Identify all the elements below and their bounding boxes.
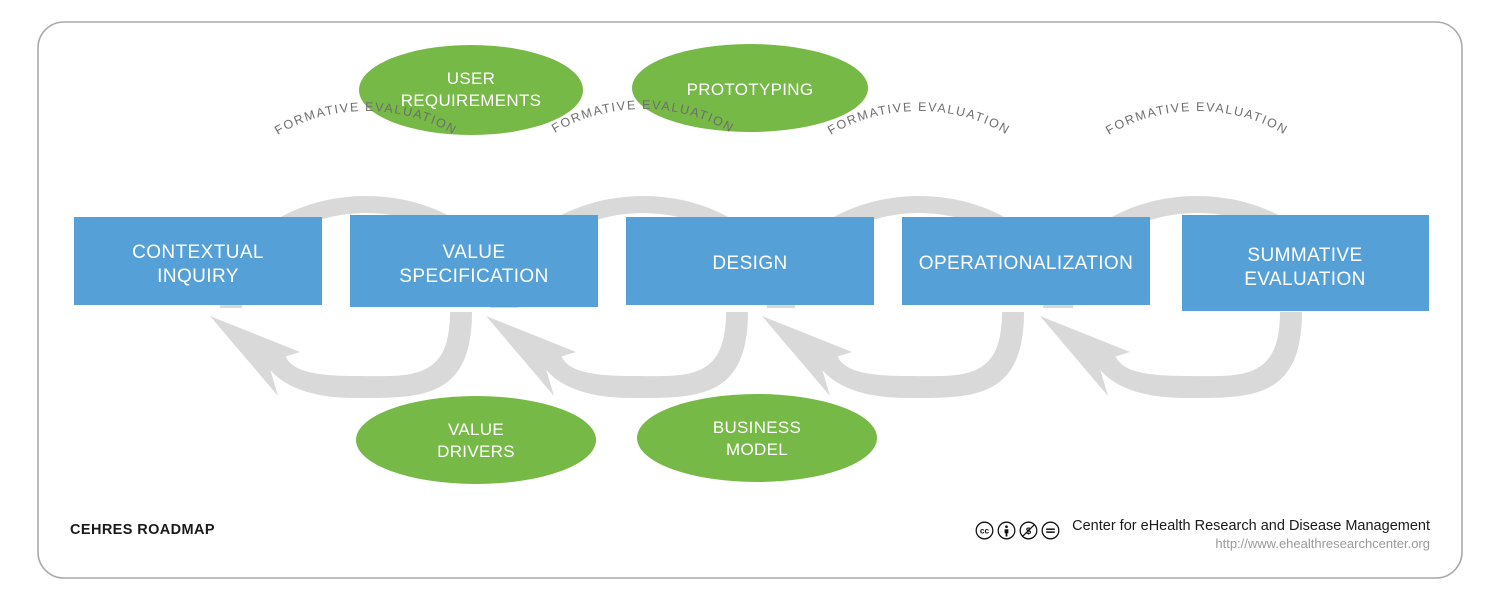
footer-right: cc $ Center for eHealth Research and Dis… xyxy=(975,518,1430,551)
activity-value-drivers[interactable]: VALUE DRIVERS xyxy=(356,396,596,484)
stage-label-line-1: OPERATIONALIZATION xyxy=(919,253,1133,274)
activity-label-line-2: MODEL xyxy=(726,440,788,459)
cc-nd-icon xyxy=(1041,521,1060,540)
stage-label-line-2: EVALUATION xyxy=(1244,269,1366,290)
activity-label-line-2: REQUIREMENTS xyxy=(401,91,542,110)
stage-label-line-1: CONTEXTUAL xyxy=(132,242,264,263)
activity-label-line-1: USER xyxy=(447,69,495,88)
organization-name: Center for eHealth Research and Disease … xyxy=(1072,518,1430,534)
cc-icon: cc xyxy=(975,521,994,540)
activity-user-requirements[interactable]: USER REQUIREMENTS xyxy=(359,45,583,135)
stage-label-line-1: VALUE xyxy=(443,242,506,263)
cc-nc-icon: $ xyxy=(1019,521,1038,540)
stage-label-line-1: SUMMATIVE xyxy=(1247,245,1362,266)
stage-box-summative-evaluation[interactable]: SUMMATIVE EVALUATION xyxy=(1182,215,1429,311)
stage-label-line-1: DESIGN xyxy=(712,253,787,274)
stage-box-operationalization[interactable]: OPERATIONALIZATION xyxy=(902,217,1150,305)
activity-label-line-1: PROTOTYPING xyxy=(687,80,814,99)
stage-box-contextual-inquiry[interactable]: CONTEXTUAL INQUIRY xyxy=(74,217,322,305)
organization-url[interactable]: http://www.ehealthresearchcenter.org xyxy=(1215,536,1430,551)
activity-prototyping[interactable]: PROTOTYPING xyxy=(632,44,868,132)
activity-label-line-1: VALUE xyxy=(448,420,504,439)
stage-label-line-2: SPECIFICATION xyxy=(399,266,548,287)
activity-label-line-2: DRIVERS xyxy=(437,442,515,461)
cc-by-icon xyxy=(997,521,1016,540)
license-icon-group: cc $ xyxy=(975,518,1060,540)
stage-boxes: CONTEXTUAL INQUIRY VALUE SPECIFICATION D… xyxy=(74,215,1429,311)
stage-box-value-specification[interactable]: VALUE SPECIFICATION xyxy=(350,215,598,307)
stage-label-line-2: INQUIRY xyxy=(157,266,239,287)
activity-label-line-1: BUSINESS xyxy=(713,418,801,437)
diagram-canvas: USER REQUIREMENTS PROTOTYPING VALUE DRIV… xyxy=(0,0,1500,600)
svg-text:cc: cc xyxy=(980,526,990,536)
stage-box-design[interactable]: DESIGN xyxy=(626,217,874,305)
cehres-roadmap-diagram: USER REQUIREMENTS PROTOTYPING VALUE DRIV… xyxy=(0,0,1500,600)
activity-business-model[interactable]: BUSINESS MODEL xyxy=(637,394,877,482)
footer-left: CEHRES ROADMAP xyxy=(70,521,215,539)
roadmap-title: CEHRES ROADMAP xyxy=(70,522,215,538)
